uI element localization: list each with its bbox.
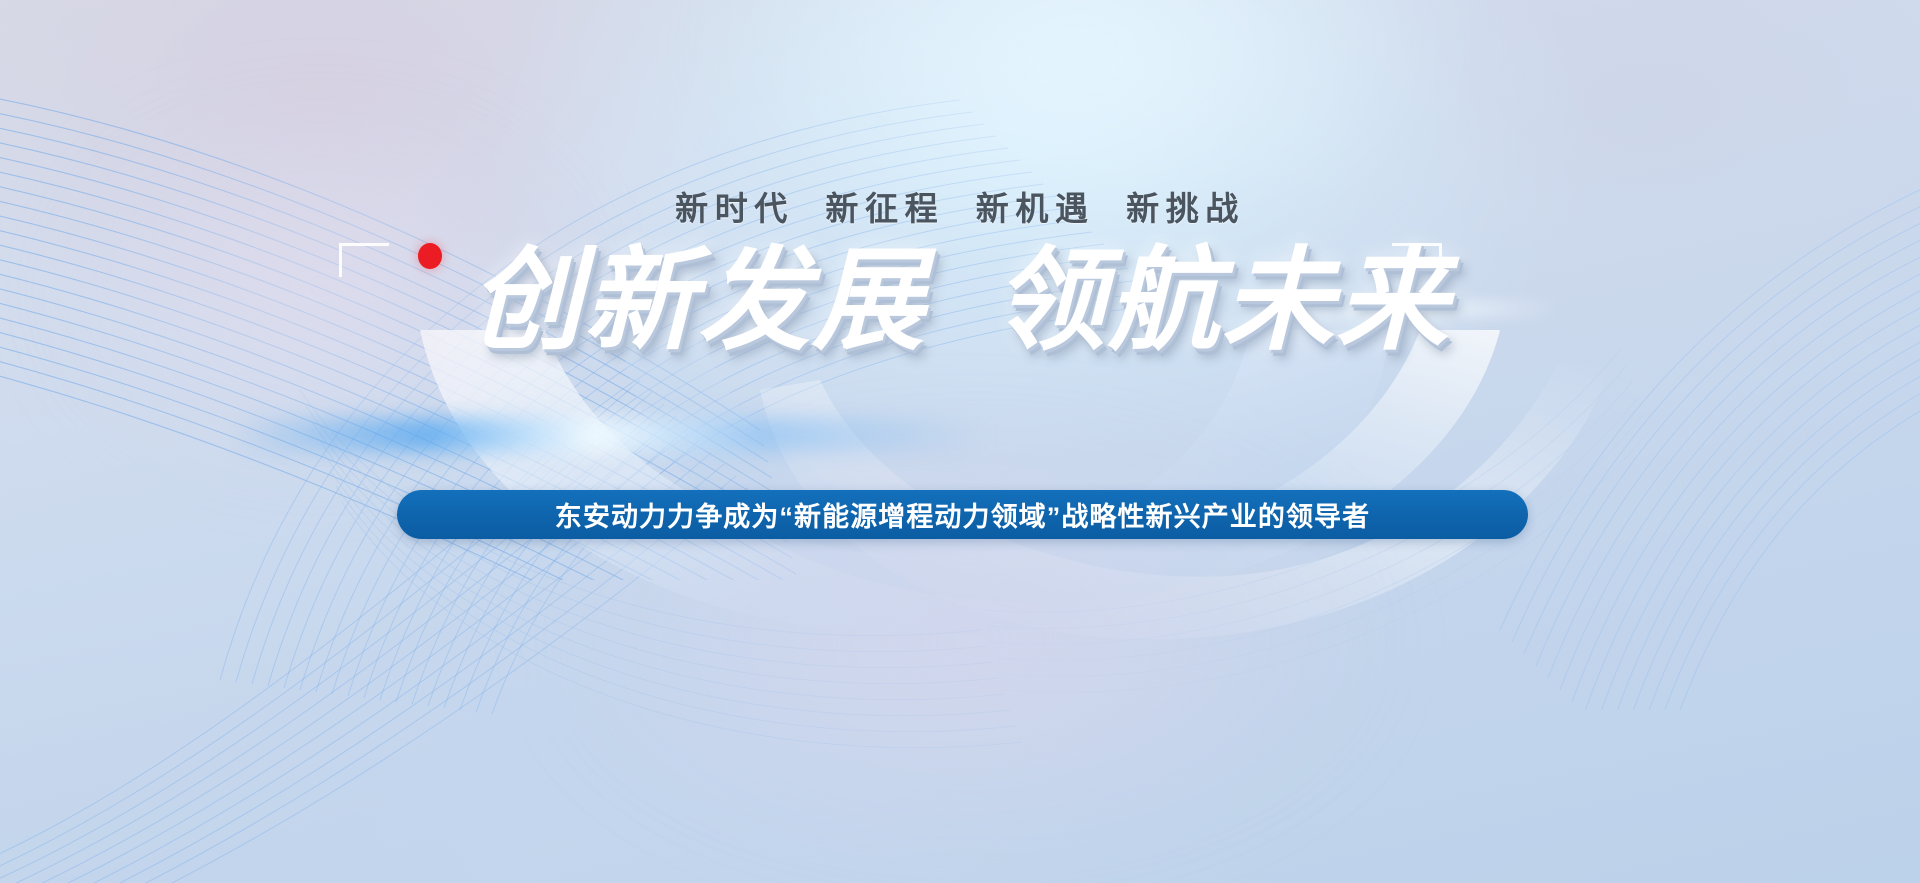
banner-headline: 创新发展 领航未来 xyxy=(0,232,1920,370)
banner-kicker-text: 新时代 新征程 新机遇 新挑战 xyxy=(0,182,1920,230)
slogan-pill-banner: 东安动力力争成为“新能源增程动力领域”战略性新兴产业的领导者 xyxy=(397,490,1528,539)
slogan-pill-text: 东安动力力争成为“新能源增程动力领域”战略性新兴产业的领导者 xyxy=(555,495,1370,534)
red-accent-dot-icon xyxy=(418,243,442,269)
promotional-banner: 新时代 新征程 新机遇 新挑战 创新发展 领航未来 东安动力力争成为“新能源增程… xyxy=(0,0,1920,883)
banner-content: 新时代 新征程 新机遇 新挑战 创新发展 领航未来 东安动力力争成为“新能源增程… xyxy=(0,0,1920,883)
headline-area: 创新发展 领航未来 xyxy=(0,232,1920,372)
